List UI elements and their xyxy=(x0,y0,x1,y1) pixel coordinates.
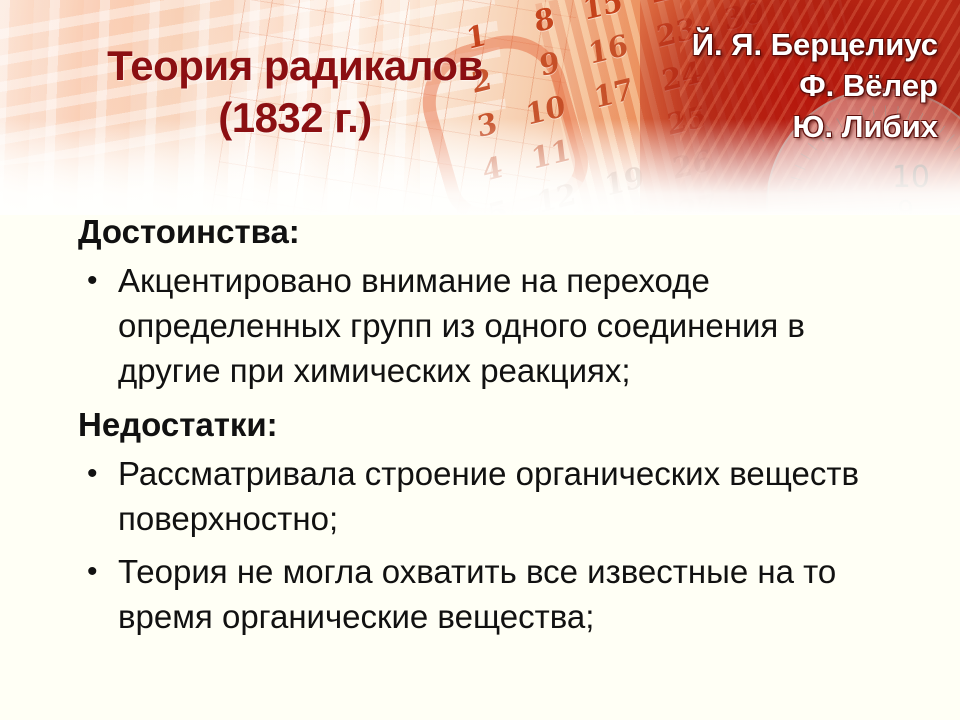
calendar-cell: 8 xyxy=(513,0,556,44)
section-heading-disadvantages: Недостатки: xyxy=(78,403,960,447)
list-item: • Теория не могла охватить все известные… xyxy=(118,549,900,639)
slide-title: Теория радикалов (1832 г.) xyxy=(0,40,590,144)
disadvantages-bullet-list: • Рассматривала строение органических ве… xyxy=(0,451,960,639)
bullet-marker-icon: • xyxy=(87,451,100,496)
author-name-berzelius: Й. Я. Берцелиус xyxy=(692,24,938,65)
section-spacer xyxy=(0,393,960,403)
list-item-text: Акцентировано внимание на переходе опред… xyxy=(118,262,805,389)
list-item: • Акцентировано внимание на переходе опр… xyxy=(118,258,900,393)
bullet-marker-icon: • xyxy=(87,258,100,303)
section-heading-advantages: Достоинства: xyxy=(78,210,960,254)
title-line-1: Теория радикалов xyxy=(0,40,590,92)
list-item: • Рассматривала строение органических ве… xyxy=(118,451,900,541)
slide-body: Достоинства: • Акцентировано внимание на… xyxy=(0,210,960,639)
author-name-wohler: Ф. Вёлер xyxy=(692,65,938,106)
calendar-cell: 17 xyxy=(592,71,635,115)
title-line-2: (1832 г.) xyxy=(0,92,590,144)
advantages-bullet-list: • Акцентировано внимание на переходе опр… xyxy=(0,258,960,393)
list-item-text: Теория не могла охватить все известные н… xyxy=(118,553,836,635)
presentation-slide: 1 8 15 22 29 2 9 16 23 30 3 10 17 24 xyxy=(0,0,960,720)
list-item-text: Рассматривала строение органических веще… xyxy=(118,455,859,537)
section-advantages: Достоинства: • Акцентировано внимание на… xyxy=(0,210,960,393)
bullet-marker-icon: • xyxy=(87,549,100,594)
calendar-cell: 16 xyxy=(586,27,629,71)
author-names-list: Й. Я. Берцелиус Ф. Вёлер Ю. Либих xyxy=(692,24,938,147)
author-name-liebig: Ю. Либих xyxy=(692,106,938,147)
section-disadvantages: Недостатки: • Рассматривала строение орг… xyxy=(0,403,960,639)
